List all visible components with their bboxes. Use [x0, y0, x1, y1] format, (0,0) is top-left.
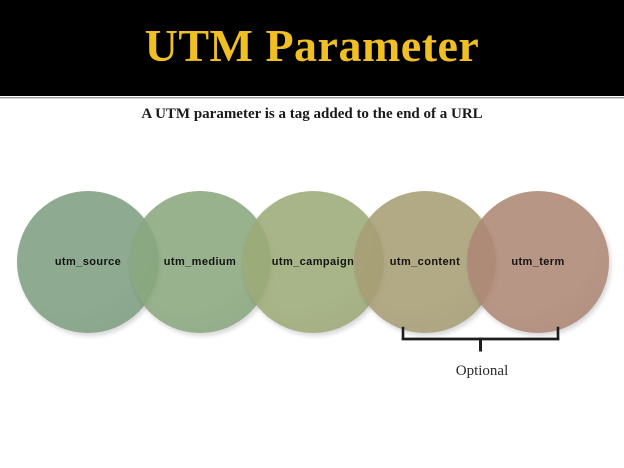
slide-canvas: UTM Parameter A UTM parameter is a tag a…: [0, 0, 624, 468]
venn-diagram: utm_source utm_medium utm_campaign utm_c…: [0, 0, 624, 468]
venn-circle-utm-term: [467, 191, 609, 333]
optional-bracket-icon: [400, 326, 565, 352]
optional-annotation-label: Optional: [402, 361, 562, 381]
